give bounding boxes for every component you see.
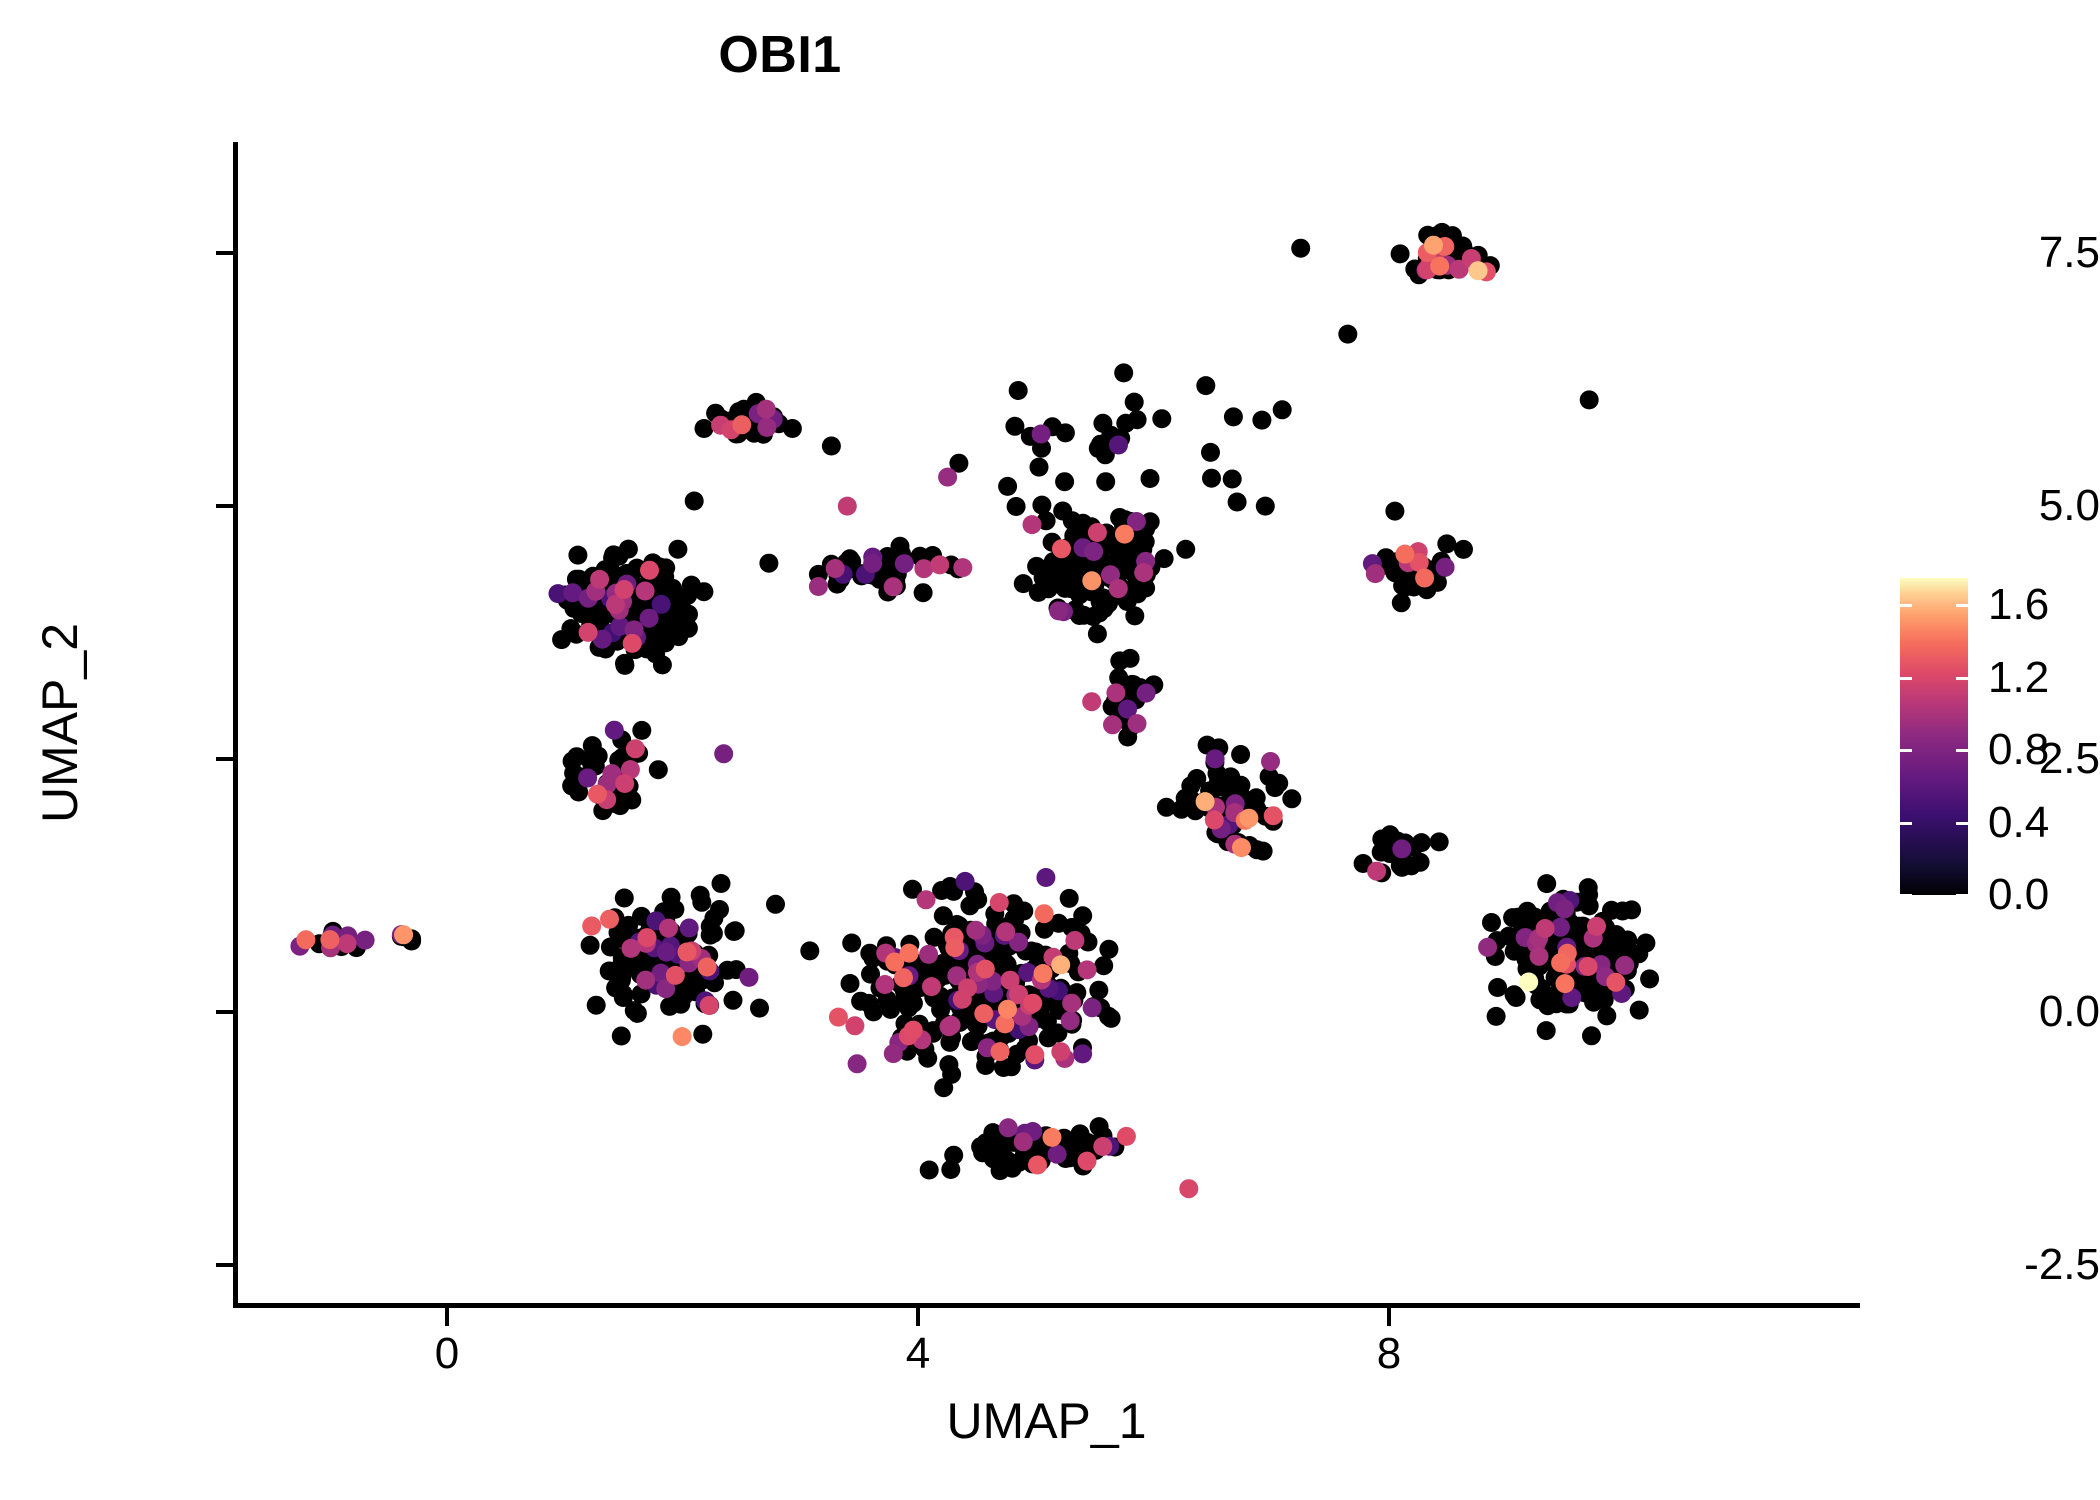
x-tick-label: 0	[367, 1332, 527, 1376]
colorbar-tick-label: 1.6	[1988, 583, 2049, 627]
colorbar-tick	[1900, 894, 1968, 897]
colorbar-tick	[1900, 822, 1968, 825]
x-tick-mark	[1387, 1308, 1391, 1326]
colorbar-tick-label: 0.4	[1988, 801, 2049, 845]
colorbar-tick	[1900, 604, 1968, 607]
colorbar-tick	[1900, 677, 1968, 680]
colorbar-gradient	[1900, 578, 1968, 895]
x-tick-mark	[916, 1308, 920, 1326]
color-legend: 0.00.40.81.21.6	[1900, 578, 2080, 903]
colorbar-tick-label: 0.8	[1988, 728, 2049, 772]
x-tick-label: 4	[838, 1332, 998, 1376]
y-axis-title: UMAP_2	[31, 373, 89, 1073]
colorbar-tick-label: 1.2	[1988, 656, 2049, 700]
x-axis-ticks: 048	[0, 0, 2100, 1500]
colorbar-tick-label: 0.0	[1988, 873, 2049, 917]
x-tick-mark	[445, 1308, 449, 1326]
x-tick-label: 8	[1309, 1332, 1469, 1376]
umap-feature-plot: OBI1 -2.50.02.55.07.5 048 UMAP_1 UMAP_2 …	[0, 0, 2100, 1500]
colorbar-tick	[1900, 749, 1968, 752]
x-axis-title: UMAP_1	[233, 1392, 1860, 1450]
